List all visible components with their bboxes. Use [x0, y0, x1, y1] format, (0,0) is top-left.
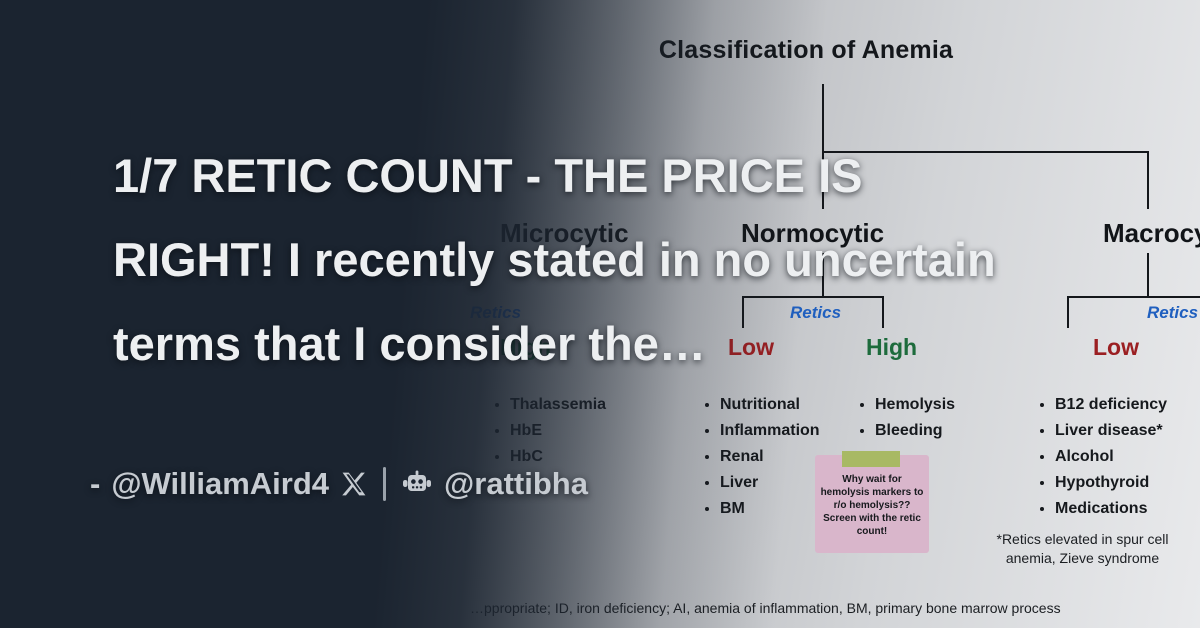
robot-icon: [401, 470, 433, 498]
link-preview-card[interactable]: Classification of Anemia Microcytic Norm…: [0, 0, 1200, 628]
service-handle: @rattibha: [444, 466, 588, 502]
card-foreground: 1/7 RETIC COUNT - THE PRICE IS RIGHT! I …: [0, 0, 1200, 628]
attribution-divider: [383, 467, 386, 501]
card-attribution: - @WilliamAird4: [90, 466, 588, 502]
card-headline: 1/7 RETIC COUNT - THE PRICE IS RIGHT! I …: [113, 134, 1018, 386]
author-handle: @WilliamAird4: [111, 466, 329, 502]
attribution-dash: -: [90, 466, 100, 502]
x-logo-icon: [340, 470, 368, 498]
